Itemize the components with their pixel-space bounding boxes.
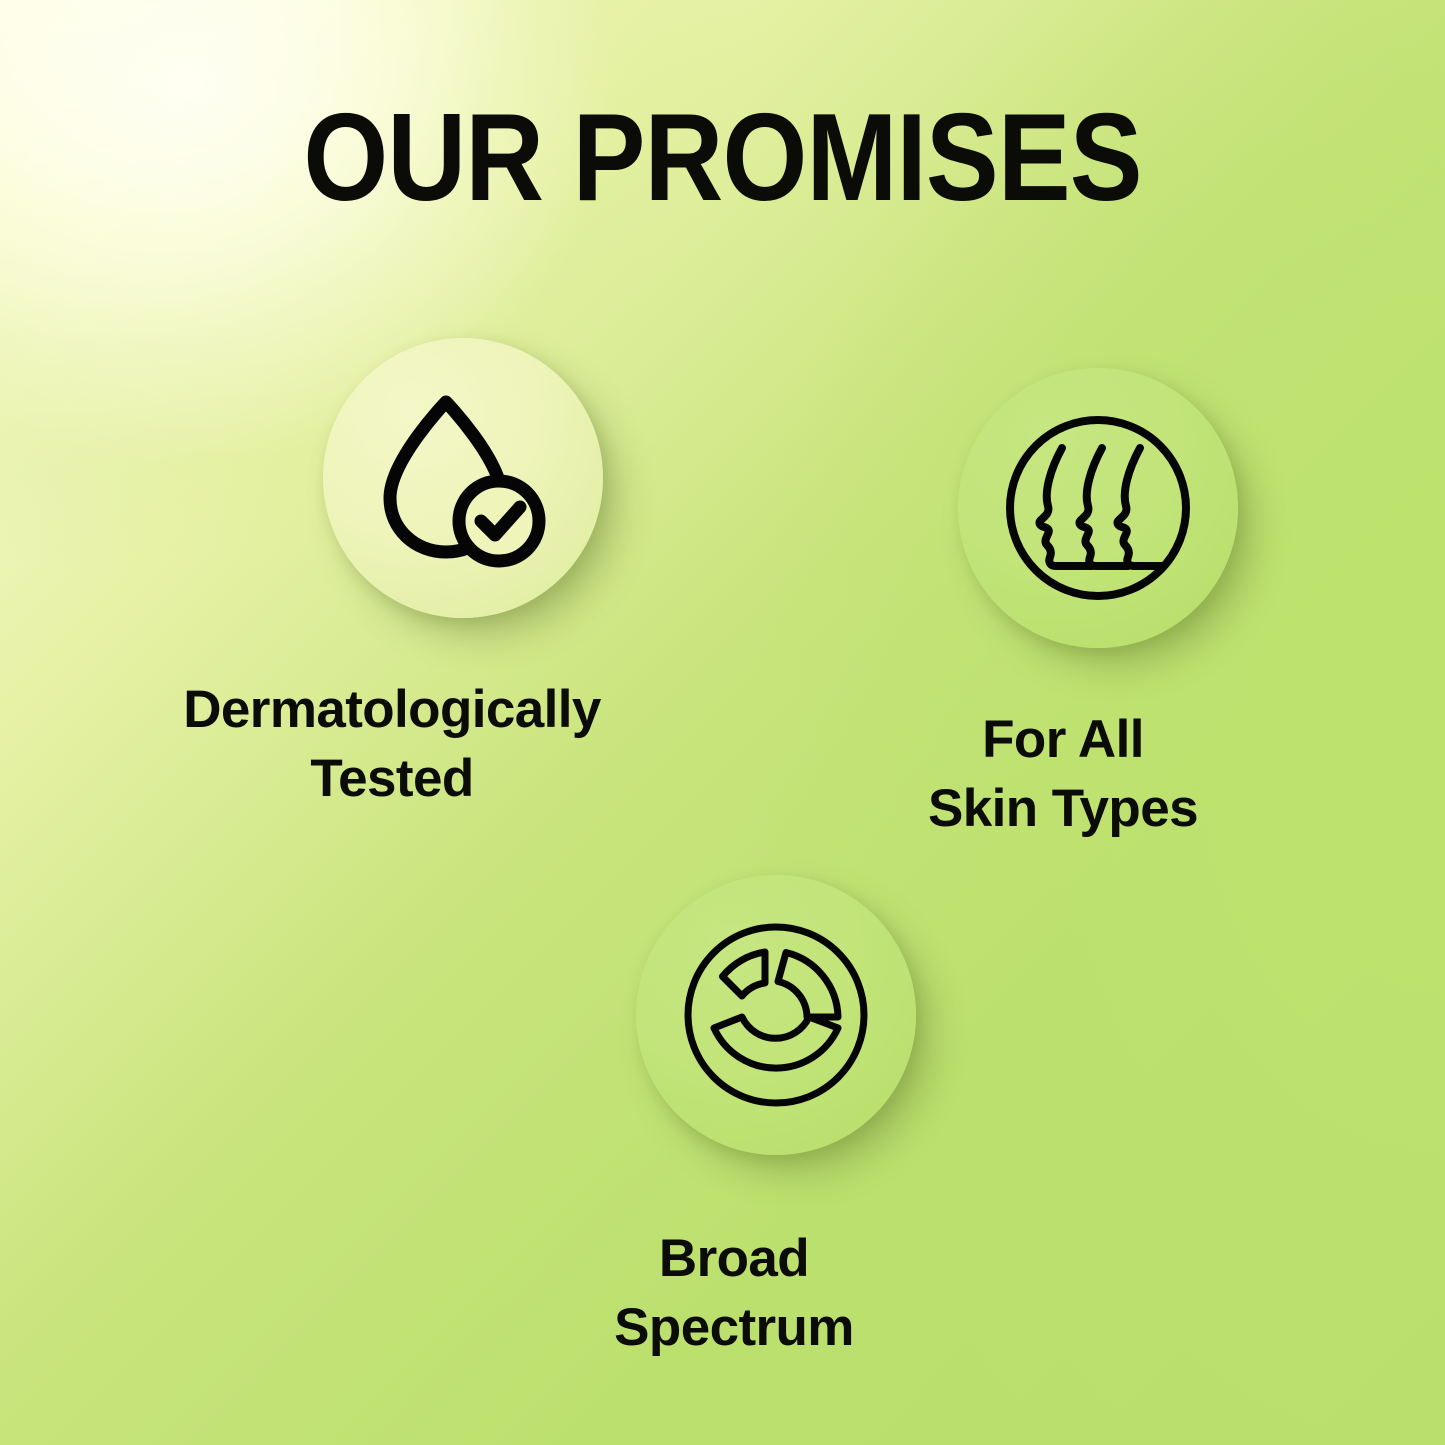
- three-face-profiles-icon: [1000, 410, 1196, 606]
- promise-badge: [323, 338, 603, 618]
- promise-item-dermatologically-tested: Dermatologically Tested: [112, 338, 672, 814]
- promise-badge: [636, 875, 916, 1155]
- promise-label: Dermatologically Tested: [183, 676, 600, 814]
- promise-item-for-all-skin-types: For All Skin Types: [838, 368, 1288, 844]
- broad-spectrum-arcs-icon: [678, 917, 874, 1113]
- page-title: OUR PROMISES: [87, 96, 1359, 220]
- promise-item-broad-spectrum: Broad Spectrum: [502, 875, 966, 1363]
- promise-label: Broad Spectrum: [614, 1225, 854, 1363]
- promise-badge: [958, 368, 1238, 648]
- promises-graphic: OUR PROMISES Dermatologically Tested: [0, 0, 1445, 1445]
- promise-label: For All Skin Types: [928, 706, 1198, 844]
- water-drop-check-icon: [368, 388, 558, 568]
